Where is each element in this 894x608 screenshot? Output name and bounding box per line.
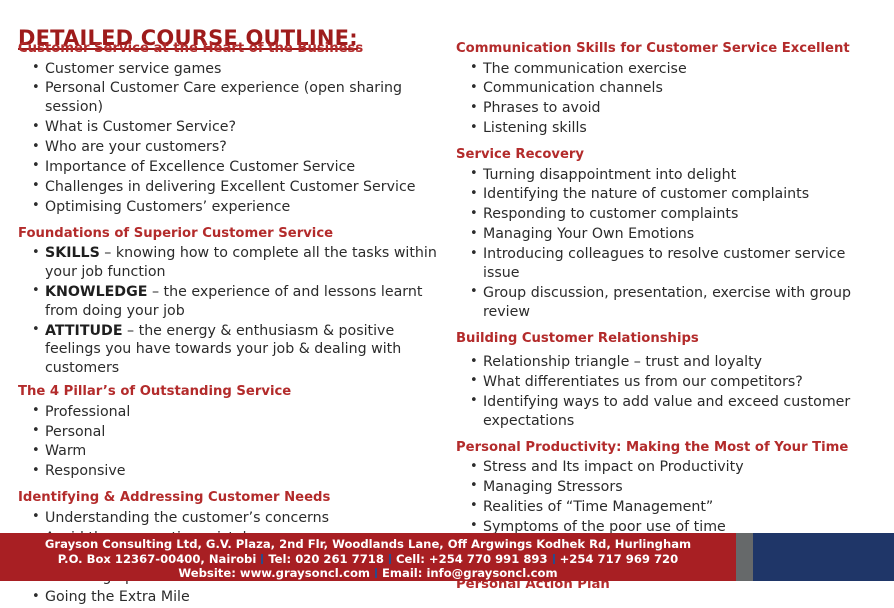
section-heading: Service Recovery [456, 147, 884, 164]
list-item: Professional [32, 403, 441, 422]
section-customer-service-heart: Customer Service at the Heart of the Bus… [18, 41, 441, 217]
list-item: The communication exercise [470, 60, 884, 79]
list-item-text: Who are your customers? [45, 139, 227, 155]
list-item: KNOWLEDGE – the experience of and lesson… [32, 283, 441, 321]
separator-icon [375, 568, 377, 578]
list-item: Understanding the customer’s concerns [32, 509, 441, 528]
list-item: Who are your customers? [32, 138, 441, 157]
list-item-text: Phrases to avoid [483, 100, 601, 116]
section-service-recovery: Service Recovery Turning disappointment … [456, 147, 884, 322]
list-item: Relationship triangle – trust and loyalt… [470, 353, 884, 372]
list-item: SKILLS – knowing how to complete all the… [32, 244, 441, 282]
footer-gray-block [736, 533, 753, 581]
footer-pobox: P.O. Box 12367-00400, Nairobi [58, 552, 257, 566]
list-item-text: Challenges in delivering Excellent Custo… [45, 179, 415, 195]
list-item-text: Customer service games [45, 61, 221, 77]
list-item-text: Group discussion, presentation, exercise… [483, 285, 851, 320]
list-item-text: Personal [45, 424, 105, 440]
list-item: Personal Customer Care experience (open … [32, 79, 441, 117]
list-item-text: Understanding the customer’s concerns [45, 510, 329, 526]
list-item-lead: SKILLS [45, 245, 100, 261]
list-item-text: Going the Extra Mile [45, 589, 190, 605]
footer-tel: Tel: 020 261 7718 [268, 552, 384, 566]
section-communication-skills: Communication Skills for Customer Servic… [456, 41, 884, 138]
list-item-text: Managing Stressors [483, 479, 623, 495]
footer-contact-text: Grayson Consulting Ltd, G.V. Plaza, 2nd … [0, 537, 736, 581]
outline-columns: Customer Service at the Heart of the Bus… [0, 41, 894, 533]
list-item: Identifying ways to add value and exceed… [470, 393, 884, 431]
bullet-list: Relationship triangle – trust and loyalt… [456, 353, 884, 431]
list-item: Customer service games [32, 60, 441, 79]
list-item: Going the Extra Mile [32, 588, 441, 607]
list-item: Importance of Excellence Customer Servic… [32, 158, 441, 177]
list-item-text: – knowing how to complete all the tasks … [45, 245, 437, 280]
list-item: ATTITUDE – the energy & enthusiasm & pos… [32, 322, 441, 379]
list-item: What differentiates us from our competit… [470, 373, 884, 392]
list-item-text: Responsive [45, 463, 125, 479]
list-item-text: The communication exercise [483, 61, 687, 77]
list-item-text: What is Customer Service? [45, 119, 236, 135]
footer-cell-2: +254 717 969 720 [560, 552, 679, 566]
footer-bar: Grayson Consulting Ltd, G.V. Plaza, 2nd … [0, 533, 894, 581]
list-item-text: Responding to customer complaints [483, 206, 738, 222]
section-heading: Identifying & Addressing Customer Needs [18, 490, 441, 507]
list-item-text: Importance of Excellence Customer Servic… [45, 159, 355, 175]
bullet-list: SKILLS – knowing how to complete all the… [18, 244, 441, 378]
list-item: Identifying the nature of customer compl… [470, 185, 884, 204]
section-heading: Foundations of Superior Customer Service [18, 226, 441, 243]
list-item: Challenges in delivering Excellent Custo… [32, 178, 441, 197]
list-item-lead: ATTITUDE [45, 323, 123, 339]
list-item: Introducing colleagues to resolve custom… [470, 245, 884, 283]
bullet-list: Turning disappointment into delight Iden… [456, 166, 884, 322]
list-item: Communication channels [470, 79, 884, 98]
list-item-text: Identifying the nature of customer compl… [483, 186, 809, 202]
section-heading: Personal Productivity: Making the Most o… [456, 440, 884, 457]
list-item: Listening skills [470, 119, 884, 138]
list-item: Managing Your Own Emotions [470, 225, 884, 244]
bullet-list: Professional Personal Warm Responsive [18, 403, 441, 482]
footer-phone-line: P.O. Box 12367-00400, NairobiTel: 020 26… [0, 552, 736, 567]
list-item-lead: KNOWLEDGE [45, 284, 147, 300]
right-column: Communication Skills for Customer Servic… [447, 41, 894, 596]
list-item-text: Introducing colleagues to resolve custom… [483, 246, 845, 281]
list-item-text: Stress and Its impact on Productivity [483, 459, 744, 475]
list-item-text: Professional [45, 404, 130, 420]
list-item-text: Listening skills [483, 120, 587, 136]
footer-web-line: Website: www.graysoncl.comEmail: info@gr… [0, 566, 736, 581]
section-heading: Customer Service at the Heart of the Bus… [18, 41, 441, 58]
footer-cell-1: Cell: +254 770 991 893 [396, 552, 548, 566]
list-item: Personal [32, 423, 441, 442]
list-item-text: Warm [45, 443, 86, 459]
section-heading: Building Customer Relationships [456, 331, 884, 348]
list-item: Phrases to avoid [470, 99, 884, 118]
list-item-text: Communication channels [483, 80, 663, 96]
left-column: Customer Service at the Heart of the Bus… [0, 41, 447, 608]
list-item: Stress and Its impact on Productivity [470, 458, 884, 477]
list-item: Optimising Customers’ experience [32, 198, 441, 217]
list-item-text: Personal Customer Care experience (open … [45, 80, 402, 115]
list-item: Responding to customer complaints [470, 205, 884, 224]
list-item-text: What differentiates us from our competit… [483, 374, 803, 390]
separator-icon [389, 554, 391, 564]
list-item: Realities of “Time Management” [470, 498, 884, 517]
section-heading: The 4 Pillar’s of Outstanding Service [18, 384, 441, 401]
separator-icon [261, 554, 263, 564]
section-heading: Communication Skills for Customer Servic… [456, 41, 884, 58]
footer-navy-block [753, 533, 894, 581]
bullet-list: Customer service games Personal Customer… [18, 60, 441, 217]
list-item-text: Managing Your Own Emotions [483, 226, 694, 242]
bullet-list: The communication exercise Communication… [456, 60, 884, 139]
separator-icon [553, 554, 555, 564]
list-item-text: Optimising Customers’ experience [45, 199, 290, 215]
list-item: Turning disappointment into delight [470, 166, 884, 185]
list-item-text: Relationship triangle – trust and loyalt… [483, 354, 762, 370]
footer-red-block: Grayson Consulting Ltd, G.V. Plaza, 2nd … [0, 533, 736, 581]
list-item: Warm [32, 442, 441, 461]
list-item: Managing Stressors [470, 478, 884, 497]
list-item: Responsive [32, 462, 441, 481]
list-item: What is Customer Service? [32, 118, 441, 137]
footer-website[interactable]: Website: www.graysoncl.com [178, 566, 370, 580]
list-item-text: Realities of “Time Management” [483, 499, 713, 515]
footer-email[interactable]: Email: info@graysoncl.com [382, 566, 558, 580]
list-item-text: Identifying ways to add value and exceed… [483, 394, 850, 429]
section-foundations: Foundations of Superior Customer Service… [18, 226, 441, 379]
footer-address-line: Grayson Consulting Ltd, G.V. Plaza, 2nd … [0, 537, 736, 552]
list-item: Group discussion, presentation, exercise… [470, 284, 884, 322]
section-building-relationships: Building Customer Relationships Relation… [456, 331, 884, 431]
section-four-pillars: The 4 Pillar’s of Outstanding Service Pr… [18, 384, 441, 481]
list-item-text: Turning disappointment into delight [483, 167, 736, 183]
